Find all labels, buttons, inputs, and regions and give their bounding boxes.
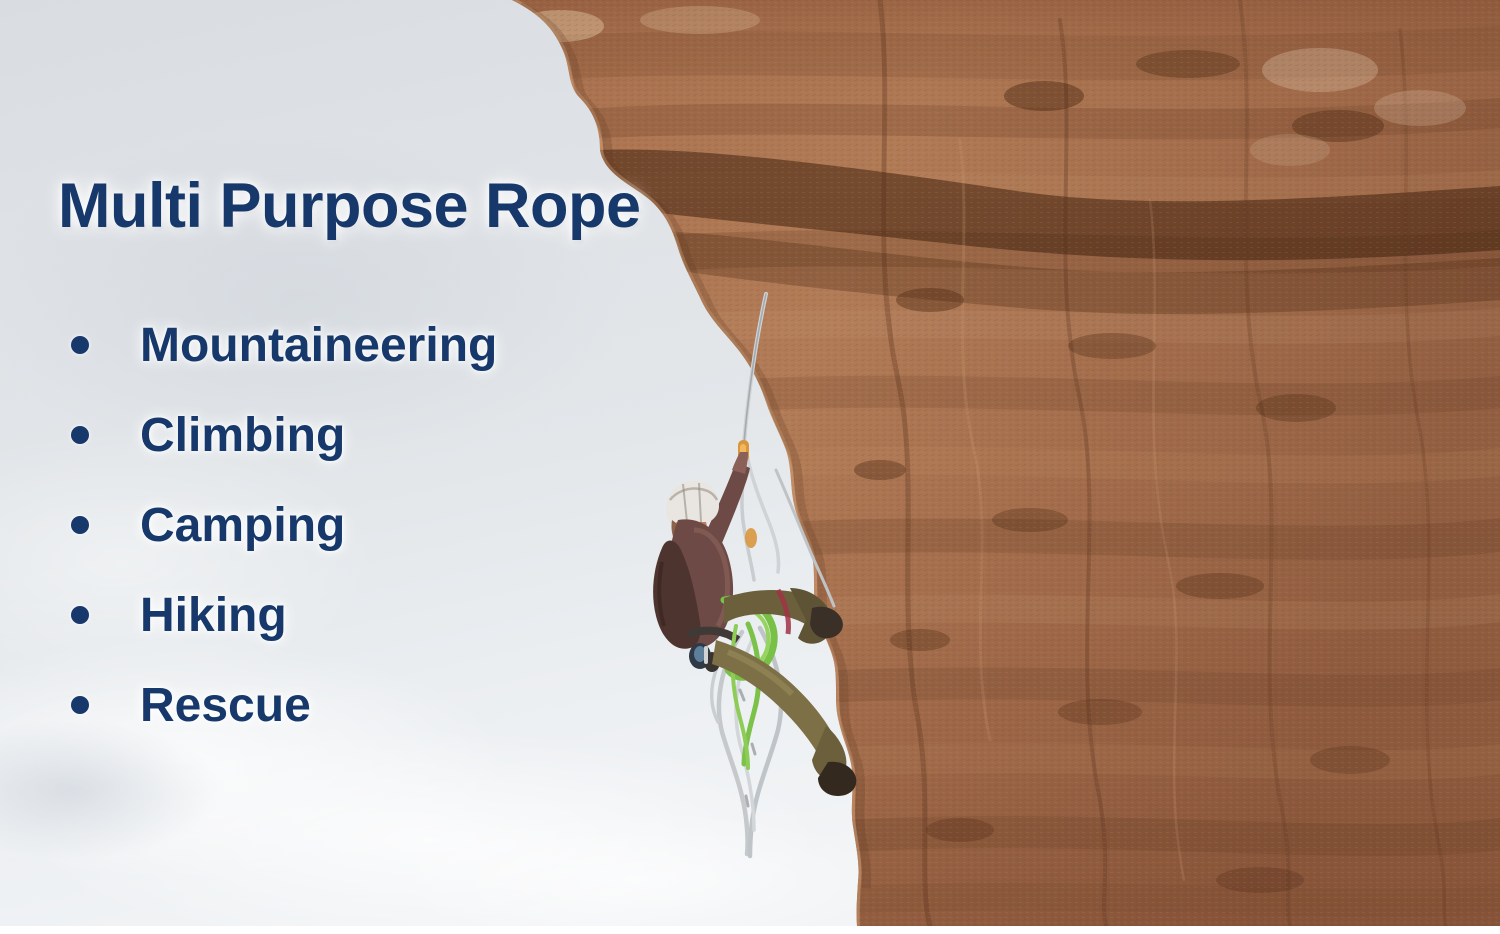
photo-svg: [0, 0, 1500, 926]
slide-canvas: Multi Purpose Rope Mountaineering Climbi…: [0, 0, 1500, 934]
bottom-white-strip: [0, 926, 1500, 934]
background-photo: [0, 0, 1500, 926]
